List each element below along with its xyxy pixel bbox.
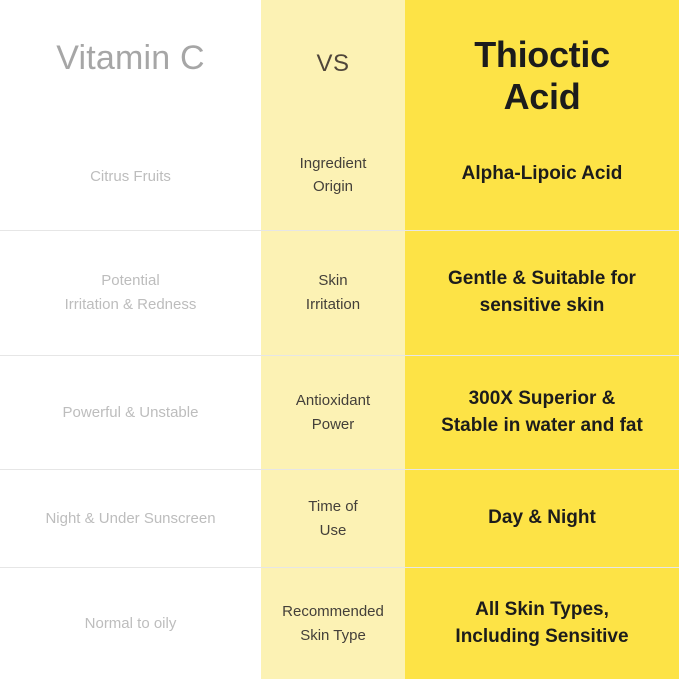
row-0-right-value: Alpha-Lipoic Acid	[405, 161, 679, 187]
page-title-right: ThiocticAcid	[405, 34, 679, 119]
row-3-left-value: Night & Under Sunscreen	[45, 507, 215, 531]
row-0-attribute: Ingredient Origin	[261, 152, 405, 199]
table-header-row: Vitamin C Citrus Fruits VS Ingredient Or…	[0, 0, 679, 230]
row-2-left-value: Powerful & Unstable	[63, 401, 199, 425]
row-3-right-value: Day & Night	[474, 505, 610, 532]
table-rows: Vitamin C Citrus Fruits VS Ingredient Or…	[0, 0, 679, 679]
row-2-right-value: 300X Superior & Stable in water and fat	[427, 386, 657, 440]
header-cell-left: Vitamin C Citrus Fruits	[0, 0, 261, 230]
table-row: Normal to oily Recommended Skin Type All…	[0, 567, 679, 679]
row-3-attribute-cell: Time of Use	[261, 470, 405, 567]
row-3-left-cell: Night & Under Sunscreen	[0, 470, 261, 567]
row-2-right-cell: 300X Superior & Stable in water and fat	[405, 356, 679, 469]
row-1-left-value: Potential Irritation & Redness	[65, 269, 197, 317]
row-1-right-cell: Gentle & Suitable for sensitive skin	[405, 231, 679, 355]
row-2-attribute-cell: Antioxidant Power	[261, 356, 405, 469]
row-1-right-value: Gentle & Suitable for sensitive skin	[434, 266, 650, 320]
page-title-left: Vitamin C	[0, 38, 261, 79]
header-cell-right: ThiocticAcid Alpha-Lipoic Acid	[405, 0, 679, 230]
table-row: Night & Under Sunscreen Time of Use Day …	[0, 469, 679, 567]
comparison-table: Vitamin C Citrus Fruits VS Ingredient Or…	[0, 0, 679, 679]
row-1-left-cell: Potential Irritation & Redness	[0, 231, 261, 355]
row-1-attribute-cell: Skin Irritation	[261, 231, 405, 355]
row-4-attribute-cell: Recommended Skin Type	[261, 568, 405, 679]
row-4-left-value: Normal to oily	[85, 612, 177, 636]
row-4-right-cell: All Skin Types, Including Sensitive	[405, 568, 679, 679]
versus-label: VS	[261, 50, 405, 79]
row-3-right-cell: Day & Night	[405, 470, 679, 567]
row-4-left-cell: Normal to oily	[0, 568, 261, 679]
row-4-right-value: All Skin Types, Including Sensitive	[441, 597, 642, 651]
table-row: Potential Irritation & Redness Skin Irri…	[0, 230, 679, 355]
row-2-left-cell: Powerful & Unstable	[0, 356, 261, 469]
row-2-attribute: Antioxidant Power	[296, 389, 370, 437]
row-0-left-value: Citrus Fruits	[0, 165, 261, 188]
header-cell-middle: VS Ingredient Origin	[261, 0, 405, 230]
row-4-attribute: Recommended Skin Type	[282, 600, 384, 648]
row-1-attribute: Skin Irritation	[306, 269, 360, 317]
row-3-attribute: Time of Use	[308, 495, 357, 543]
table-row: Powerful & Unstable Antioxidant Power 30…	[0, 355, 679, 469]
page-title-right-line2: Acid	[504, 76, 581, 117]
page-title-right-line1: Thioctic	[474, 34, 610, 75]
